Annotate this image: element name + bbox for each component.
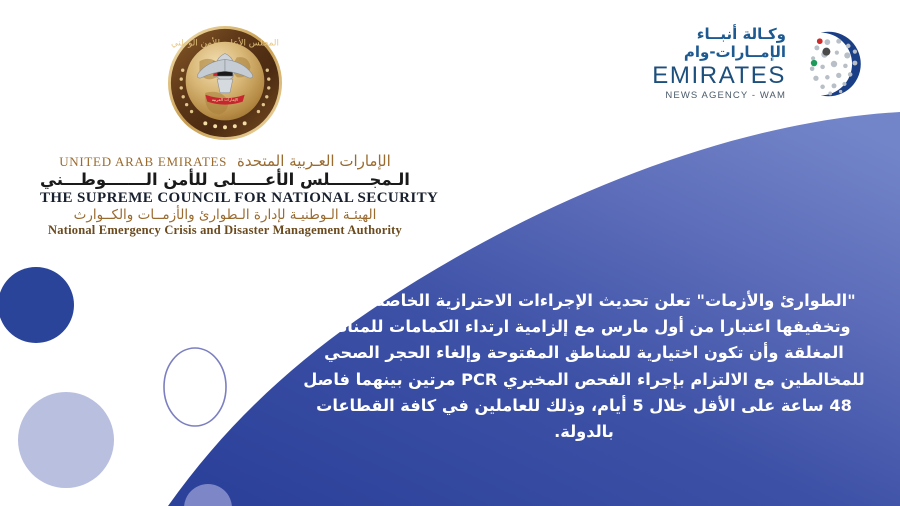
- wam-dot-red: [817, 38, 823, 44]
- poster-canvas: المجلس الأعلى للأمن الوطني: [0, 0, 900, 506]
- wam-arabic-line-2: الإمــارات-وام: [652, 45, 786, 60]
- ncema-logo-block: المجلس الأعلى للأمن الوطني: [40, 18, 410, 237]
- ncema-line-4-ar: الهيئـة الـوطنيـة لإدارة الـطوارئ والأزم…: [40, 209, 410, 223]
- decorative-solid-circle: [0, 267, 74, 343]
- wam-globe-icon: [796, 26, 872, 102]
- wam-wordmark: وكـالة أنبــاء الإمــارات-وام EMIRATES N…: [652, 27, 786, 101]
- wam-logo-block: وكـالة أنبــاء الإمــارات-وام EMIRATES N…: [652, 26, 872, 102]
- announcement-text: "الطوارئ والأزمات" تعلن تحديث الإجراءات …: [298, 288, 870, 445]
- ncema-line-2-ar: الـمجـــــــلس الأعـــــلى للأمن الـــــ…: [40, 172, 410, 189]
- decorative-light-circle: [18, 392, 114, 488]
- uae-supreme-council-national-security-emblem-icon: المجلس الأعلى للأمن الوطني: [166, 24, 284, 142]
- ncema-line-1-en: UNITED ARAB EMIRATES: [59, 155, 227, 168]
- wam-dot-black: [822, 48, 830, 56]
- wam-dot-green: [811, 60, 817, 66]
- ncema-line-1-ar: الإمارات العـربية المتحدة: [237, 154, 391, 169]
- wam-arabic-line-1: وكـالة أنبــاء: [652, 27, 786, 42]
- wam-english-line-2: NEWS AGENCY - WAM: [652, 91, 786, 101]
- ncema-wordmark: UNITED ARAB EMIRATES الإمارات العـربية ا…: [40, 154, 410, 237]
- wam-english-line-1: EMIRATES: [652, 64, 786, 88]
- ncema-line-3-en: THE SUPREME COUNCIL FOR NATIONAL SECURIT…: [40, 191, 410, 206]
- ncema-line-1: UNITED ARAB EMIRATES الإمارات العـربية ا…: [40, 154, 410, 169]
- emblem-wrapper: المجلس الأعلى للأمن الوطني: [40, 18, 410, 148]
- ncema-line-5-en: National Emergency Crisis and Disaster M…: [40, 224, 410, 237]
